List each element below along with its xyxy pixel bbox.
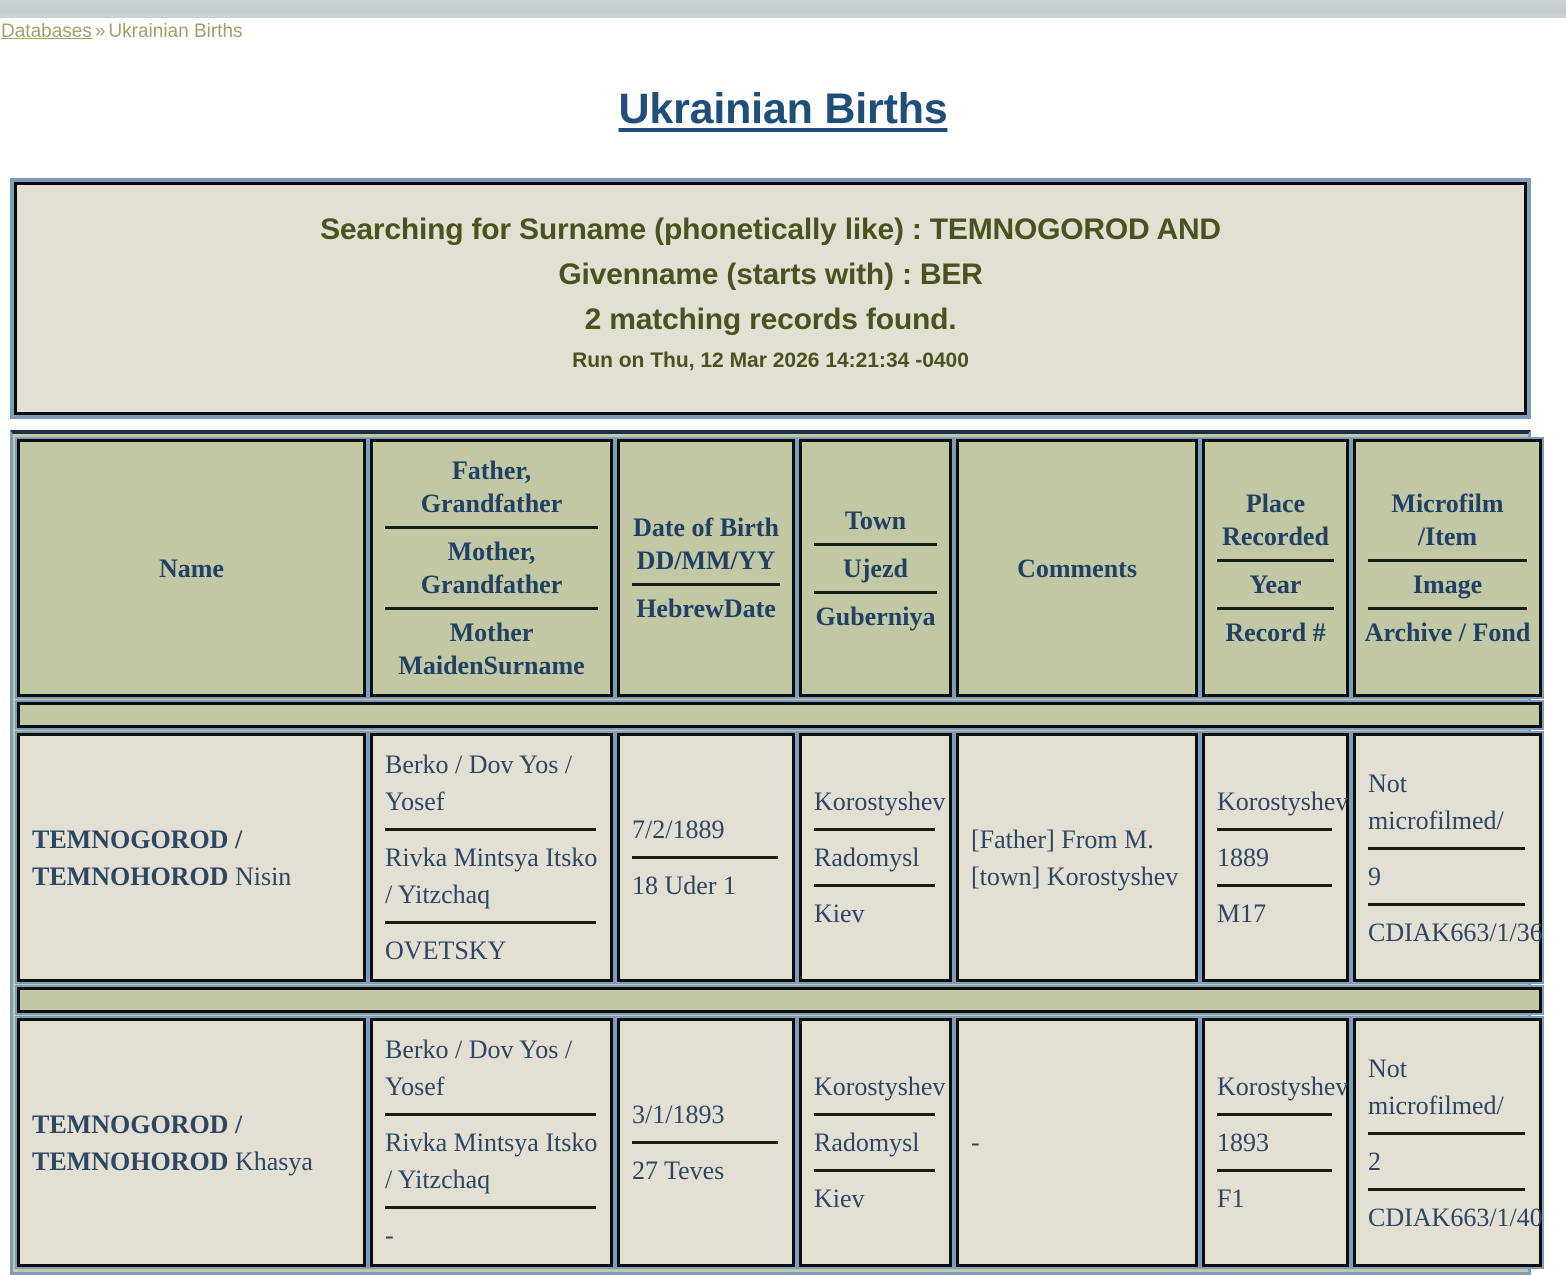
column-header-place-recorded: Place Recorded Year Record # [1202, 439, 1349, 697]
record-year: 1889 [1217, 839, 1334, 876]
cell-parents: Berko / Dov Yos / Yosef Rivka Mintsya It… [370, 1018, 613, 1267]
record-mother: Rivka Mintsya Itsko / Yitzchaq [385, 1124, 598, 1198]
cell-divider [1368, 1132, 1525, 1135]
cell-town: Korostyshev Radomysl Kiev [799, 733, 952, 982]
table-row: TEMNOGOROD / TEMNOHOROD Nisin Berko / Do… [17, 733, 1542, 982]
record-guberniya: Kiev [814, 895, 937, 932]
cell-parents: Berko / Dov Yos / Yosef Rivka Mintsya It… [370, 733, 613, 982]
page-title: Ukrainian Births [0, 85, 1566, 134]
record-surname: TEMNOGOROD / TEMNOHOROD [32, 1110, 242, 1176]
breadcrumb-link-databases[interactable]: Databases [1, 21, 92, 42]
cell-divider [385, 1113, 596, 1116]
column-header-town-label: Town [808, 500, 943, 541]
record-image: 2 [1368, 1143, 1527, 1180]
column-header-mother-maiden: Mother MaidenSurname [379, 612, 604, 686]
record-year: 1893 [1217, 1124, 1334, 1161]
breadcrumb: Databases»Ukrainian Births [0, 18, 1566, 44]
column-header-year: Year [1211, 564, 1340, 605]
search-criteria-line-2: Givenname (starts with) : BER [27, 252, 1514, 297]
record-father: Berko / Dov Yos / Yosef [385, 746, 598, 820]
search-summary-panel: Searching for Surname (phonetically like… [10, 178, 1531, 419]
record-date-of-birth: 3/1/1893 [632, 1096, 780, 1133]
column-header-guberniya: Guberniya [808, 596, 943, 637]
cell-name: TEMNOGOROD / TEMNOHOROD Khasya [17, 1018, 366, 1267]
record-microfilm-item: Not microfilmed/ [1368, 1050, 1527, 1124]
record-place-recorded: Korostyshev [1217, 783, 1334, 820]
breadcrumb-current: Ukrainian Births [108, 21, 242, 42]
cell-divider [1217, 1113, 1332, 1116]
column-header-comments-label: Comments [965, 548, 1189, 589]
results-table-frame: Name Father, Grandfather Mother, Grandfa… [10, 430, 1531, 1275]
cell-place-recorded: Korostyshev 1889 M17 [1202, 733, 1349, 982]
header-divider [632, 583, 780, 586]
page-root: Databases»Ukrainian Births Ukrainian Bir… [0, 18, 1566, 1275]
cell-divider [814, 828, 935, 831]
cell-divider [814, 1169, 935, 1172]
cell-divider [1368, 1188, 1525, 1191]
cell-divider [814, 884, 935, 887]
spacer-cell [17, 702, 1542, 728]
cell-microfilm: Not microfilmed/ 9 CDIAK663/1/36 [1353, 733, 1542, 982]
record-hebrew-date: 18 Uder 1 [632, 867, 780, 904]
column-header-town: Town Ujezd Guberniya [799, 439, 952, 697]
cell-divider [1217, 884, 1332, 887]
spacer-cell [17, 987, 1542, 1013]
cell-comments: - [956, 1018, 1198, 1267]
record-mother-maiden: - [385, 1217, 598, 1254]
column-header-name-label: Name [26, 548, 357, 589]
run-timestamp: Run on Thu, 12 Mar 2026 14:21:34 -0400 [27, 344, 1514, 378]
column-header-place-label: Place Recorded [1211, 483, 1340, 557]
cell-divider [1217, 828, 1332, 831]
results-table: Name Father, Grandfather Mother, Grandfa… [13, 434, 1546, 1272]
column-header-dob-label: Date of Birth DD/MM/YY [626, 507, 786, 581]
record-mother: Rivka Mintsya Itsko / Yitzchaq [385, 839, 598, 913]
record-record-number: M17 [1217, 895, 1334, 932]
cell-divider [1368, 847, 1525, 850]
record-givenname: Nisin [235, 862, 291, 891]
column-header-microfilm: Microfilm /Item Image Archive / Fond [1353, 439, 1542, 697]
header-divider [1217, 607, 1334, 610]
record-mother-maiden: OVETSKY [385, 932, 598, 969]
record-hebrew-date: 27 Teves [632, 1152, 780, 1189]
column-header-record-number: Record # [1211, 612, 1340, 653]
match-count-line: 2 matching records found. [27, 297, 1514, 342]
header-body-spacer [17, 702, 1542, 728]
cell-date-of-birth: 7/2/1889 18 Uder 1 [617, 733, 795, 982]
search-summary-inner: Searching for Surname (phonetically like… [14, 182, 1527, 415]
cell-divider [385, 1206, 596, 1209]
record-date-of-birth: 7/2/1889 [632, 811, 780, 848]
cell-microfilm: Not microfilmed/ 2 CDIAK663/1/40 [1353, 1018, 1542, 1267]
cell-divider [1217, 1169, 1332, 1172]
column-header-ujezd: Ujezd [808, 548, 943, 589]
header-row: Name Father, Grandfather Mother, Grandfa… [17, 439, 1542, 697]
search-criteria-line-1: Searching for Surname (phonetically like… [27, 207, 1514, 252]
column-header-name: Name [17, 439, 366, 697]
record-town: Korostyshev [814, 1068, 937, 1105]
record-image: 9 [1368, 858, 1527, 895]
cell-divider [632, 856, 778, 859]
column-header-father: Father, Grandfather [379, 450, 604, 524]
record-microfilm-item: Not microfilmed/ [1368, 765, 1527, 839]
record-archive-fond: CDIAK663/1/40 [1368, 1199, 1527, 1236]
results-table-head: Name Father, Grandfather Mother, Grandfa… [17, 439, 1542, 697]
record-surname: TEMNOGOROD / TEMNOHOROD [32, 825, 242, 891]
column-header-date-of-birth: Date of Birth DD/MM/YY HebrewDate [617, 439, 795, 697]
column-header-comments: Comments [956, 439, 1198, 697]
results-table-body: TEMNOGOROD / TEMNOHOROD Nisin Berko / Do… [17, 702, 1542, 1267]
column-header-hebrew-date: HebrewDate [626, 588, 786, 629]
column-header-parents: Father, Grandfather Mother, Grandfather … [370, 439, 613, 697]
header-divider [1217, 559, 1334, 562]
cell-divider [385, 921, 596, 924]
cell-comments: [Father] From M. [town] Korostyshev [956, 733, 1198, 982]
record-record-number: F1 [1217, 1180, 1334, 1217]
cell-name: TEMNOGOROD / TEMNOHOROD Nisin [17, 733, 366, 982]
breadcrumb-separator: » [92, 21, 109, 42]
column-header-microfilm-item: Microfilm /Item [1362, 483, 1533, 557]
record-ujezd: Radomysl [814, 1124, 937, 1161]
cell-place-recorded: Korostyshev 1893 F1 [1202, 1018, 1349, 1267]
cell-divider [632, 1141, 778, 1144]
header-divider [814, 591, 937, 594]
browser-chrome-band [0, 0, 1566, 18]
record-archive-fond: CDIAK663/1/36 [1368, 914, 1527, 951]
header-divider [1368, 559, 1527, 562]
column-header-image: Image [1362, 564, 1533, 605]
record-givenname: Khasya [235, 1147, 313, 1176]
header-divider [385, 607, 598, 610]
cell-date-of-birth: 3/1/1893 27 Teves [617, 1018, 795, 1267]
table-row: TEMNOGOROD / TEMNOHOROD Khasya Berko / D… [17, 1018, 1542, 1267]
record-town: Korostyshev [814, 783, 937, 820]
record-guberniya: Kiev [814, 1180, 937, 1217]
header-divider [1368, 607, 1527, 610]
column-header-mother: Mother, Grandfather [379, 531, 604, 605]
header-divider [814, 543, 937, 546]
cell-town: Korostyshev Radomysl Kiev [799, 1018, 952, 1267]
record-father: Berko / Dov Yos / Yosef [385, 1031, 598, 1105]
cell-divider [814, 1113, 935, 1116]
record-place-recorded: Korostyshev [1217, 1068, 1334, 1105]
cell-divider [385, 828, 596, 831]
column-header-archive-fond: Archive / Fond [1362, 612, 1533, 653]
record-ujezd: Radomysl [814, 839, 937, 876]
header-divider [385, 526, 598, 529]
cell-divider [1368, 903, 1525, 906]
row-separator [17, 987, 1542, 1013]
